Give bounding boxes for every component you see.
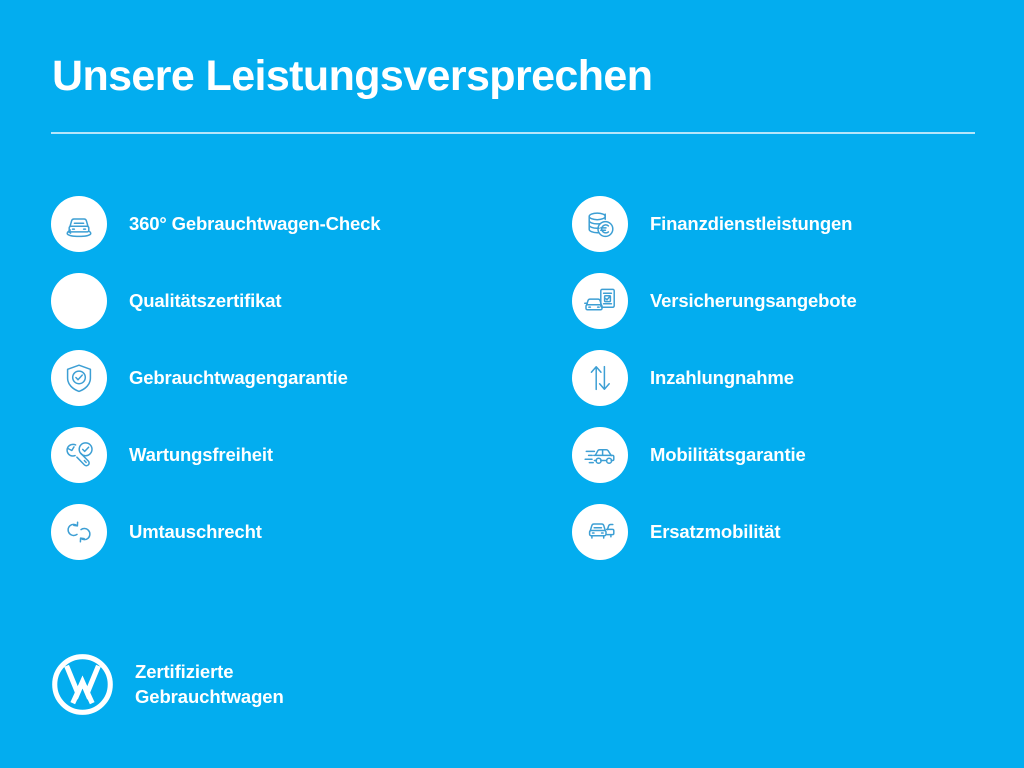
- feature-label: 360° Gebrauchtwagen-Check: [129, 213, 380, 235]
- feature-item-gebrauchtwagengarantie[interactable]: Gebrauchtwagengarantie: [51, 350, 380, 406]
- volkswagen-logo-icon: [51, 653, 114, 716]
- car-motion-icon: [572, 427, 628, 483]
- feature-column-left: 360° Gebrauchtwagen-Check Qualitätszerti…: [51, 196, 380, 560]
- slide-root: Unsere Leistungsversprechen 360°: [0, 0, 1024, 768]
- two-cars-icon: [572, 504, 628, 560]
- feature-item-umtauschrecht[interactable]: Umtauschrecht: [51, 504, 380, 560]
- feature-label: Mobilitätsgarantie: [650, 444, 806, 466]
- feature-item-inzahlungnahme[interactable]: Inzahlungnahme: [572, 350, 857, 406]
- feature-label: Inzahlungnahme: [650, 367, 794, 389]
- feature-label: Finanzdienstleistungen: [650, 213, 852, 235]
- page-title: Unsere Leistungsversprechen: [52, 54, 652, 99]
- brand-line-2: Gebrauchtwagen: [135, 685, 284, 709]
- award-rosette-icon: [51, 273, 107, 329]
- feature-item-mobilitaetsgarantie[interactable]: Mobilitätsgarantie: [572, 427, 857, 483]
- feature-column-right: Finanzdienstleistungen: [572, 196, 857, 560]
- feature-item-wartungsfreiheit[interactable]: Wartungsfreiheit: [51, 427, 380, 483]
- wrench-check-icon: [51, 427, 107, 483]
- feature-label: Wartungsfreiheit: [129, 444, 273, 466]
- feature-item-versicherungsangebote[interactable]: Versicherungsangebote: [572, 273, 857, 329]
- feature-item-qualitaetszertifikat[interactable]: Qualitätszertifikat: [51, 273, 380, 329]
- feature-label: Umtauschrecht: [129, 521, 262, 543]
- title-divider: [51, 132, 975, 134]
- shield-check-icon: [51, 350, 107, 406]
- feature-label: Versicherungsangebote: [650, 290, 857, 312]
- car-document-check-icon: [572, 273, 628, 329]
- arrows-up-down-icon: [572, 350, 628, 406]
- feature-label: Qualitätszertifikat: [129, 290, 281, 312]
- feature-label: Gebrauchtwagengarantie: [129, 367, 348, 389]
- brand-text: Zertifizierte Gebrauchtwagen: [135, 660, 284, 709]
- feature-item-finanzdienstleistungen[interactable]: Finanzdienstleistungen: [572, 196, 857, 252]
- feature-label: Ersatzmobilität: [650, 521, 780, 543]
- brand-line-1: Zertifizierte: [135, 660, 284, 684]
- feature-item-ersatzmobilitaet[interactable]: Ersatzmobilität: [572, 504, 857, 560]
- exchange-arrows-icon: [51, 504, 107, 560]
- car-360-check-icon: [51, 196, 107, 252]
- feature-item-360-check[interactable]: 360° Gebrauchtwagen-Check: [51, 196, 380, 252]
- brand-lockup: Zertifizierte Gebrauchtwagen: [51, 653, 284, 716]
- coins-euro-icon: [572, 196, 628, 252]
